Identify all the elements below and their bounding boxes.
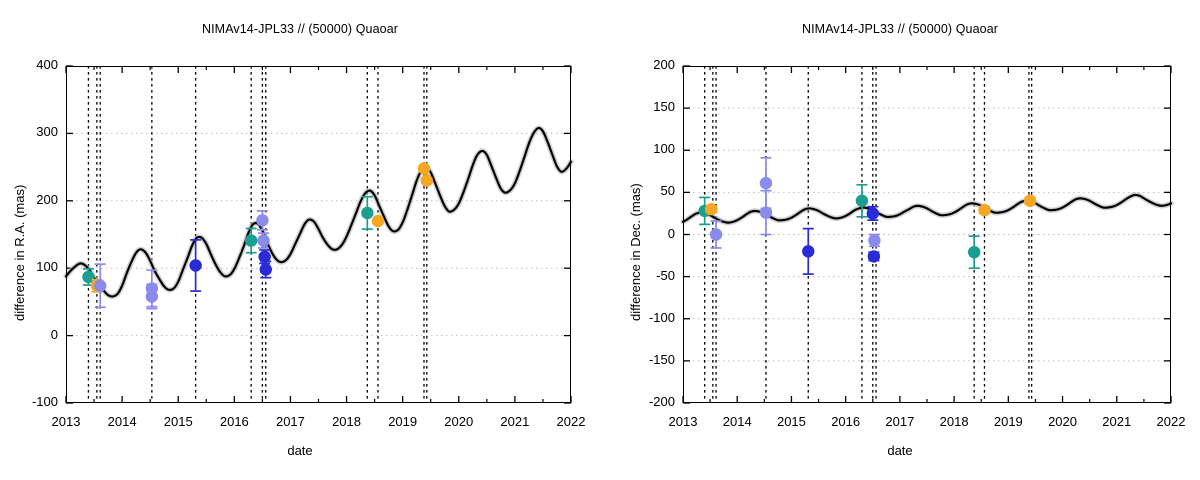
y-axis-title-dec: difference in Dec. (mas) (628, 183, 643, 321)
x-tick-label: 2015 (148, 414, 208, 429)
y-tick-label: -100 (8, 394, 58, 409)
x-tick-label: 2019 (978, 414, 1038, 429)
x-tick-label: 2020 (429, 414, 489, 429)
x-tick-label: 2020 (1033, 414, 1093, 429)
y-tick-label: 100 (8, 259, 58, 274)
y-tick-label: 300 (8, 124, 58, 139)
x-tick-label: 2013 (36, 414, 96, 429)
x-tick-label: 2022 (541, 414, 601, 429)
x-tick-label: 2016 (204, 414, 264, 429)
y-tick-label: 400 (8, 57, 58, 72)
panel-title-dec: NIMAv14-JPL33 // (50000) Quaoar (600, 22, 1200, 36)
plot-frame-dec (683, 66, 1171, 403)
plot-frame-ra (66, 66, 571, 403)
x-tick-label: 2018 (924, 414, 984, 429)
y-tick-label: -150 (625, 352, 675, 367)
x-tick-label: 2017 (870, 414, 930, 429)
x-tick-label: 2015 (761, 414, 821, 429)
plot-area-dec (683, 66, 1171, 403)
x-tick-label: 2018 (317, 414, 377, 429)
y-tick-label: 50 (625, 183, 675, 198)
x-tick-label: 2022 (1141, 414, 1200, 429)
y-tick-label: 0 (8, 327, 58, 342)
x-tick-label: 2021 (485, 414, 545, 429)
x-tick-label: 2017 (260, 414, 320, 429)
y-tick-label: 100 (625, 141, 675, 156)
figure-root: NIMAv14-JPL33 // (50000) Quaoar differen… (0, 0, 1200, 480)
x-tick-label: 2013 (653, 414, 713, 429)
y-tick-label: 150 (625, 99, 675, 114)
plot-area-ra (66, 66, 571, 403)
x-tick-label: 2016 (816, 414, 876, 429)
x-tick-label: 2019 (373, 414, 433, 429)
x-tick-label: 2014 (707, 414, 767, 429)
y-tick-label: 200 (8, 192, 58, 207)
x-tick-label: 2021 (1087, 414, 1147, 429)
x-tick-label: 2014 (92, 414, 152, 429)
x-axis-title-dec: date (600, 443, 1200, 458)
x-axis-title-ra: date (0, 443, 600, 458)
panel-title-ra: NIMAv14-JPL33 // (50000) Quaoar (0, 22, 600, 36)
panel-declination: NIMAv14-JPL33 // (50000) Quaoar differen… (600, 0, 1200, 480)
y-tick-label: -100 (625, 310, 675, 325)
y-tick-label: -200 (625, 394, 675, 409)
panel-right-ascension: NIMAv14-JPL33 // (50000) Quaoar differen… (0, 0, 600, 480)
y-tick-label: 0 (625, 226, 675, 241)
y-tick-label: -50 (625, 268, 675, 283)
y-tick-label: 200 (625, 57, 675, 72)
